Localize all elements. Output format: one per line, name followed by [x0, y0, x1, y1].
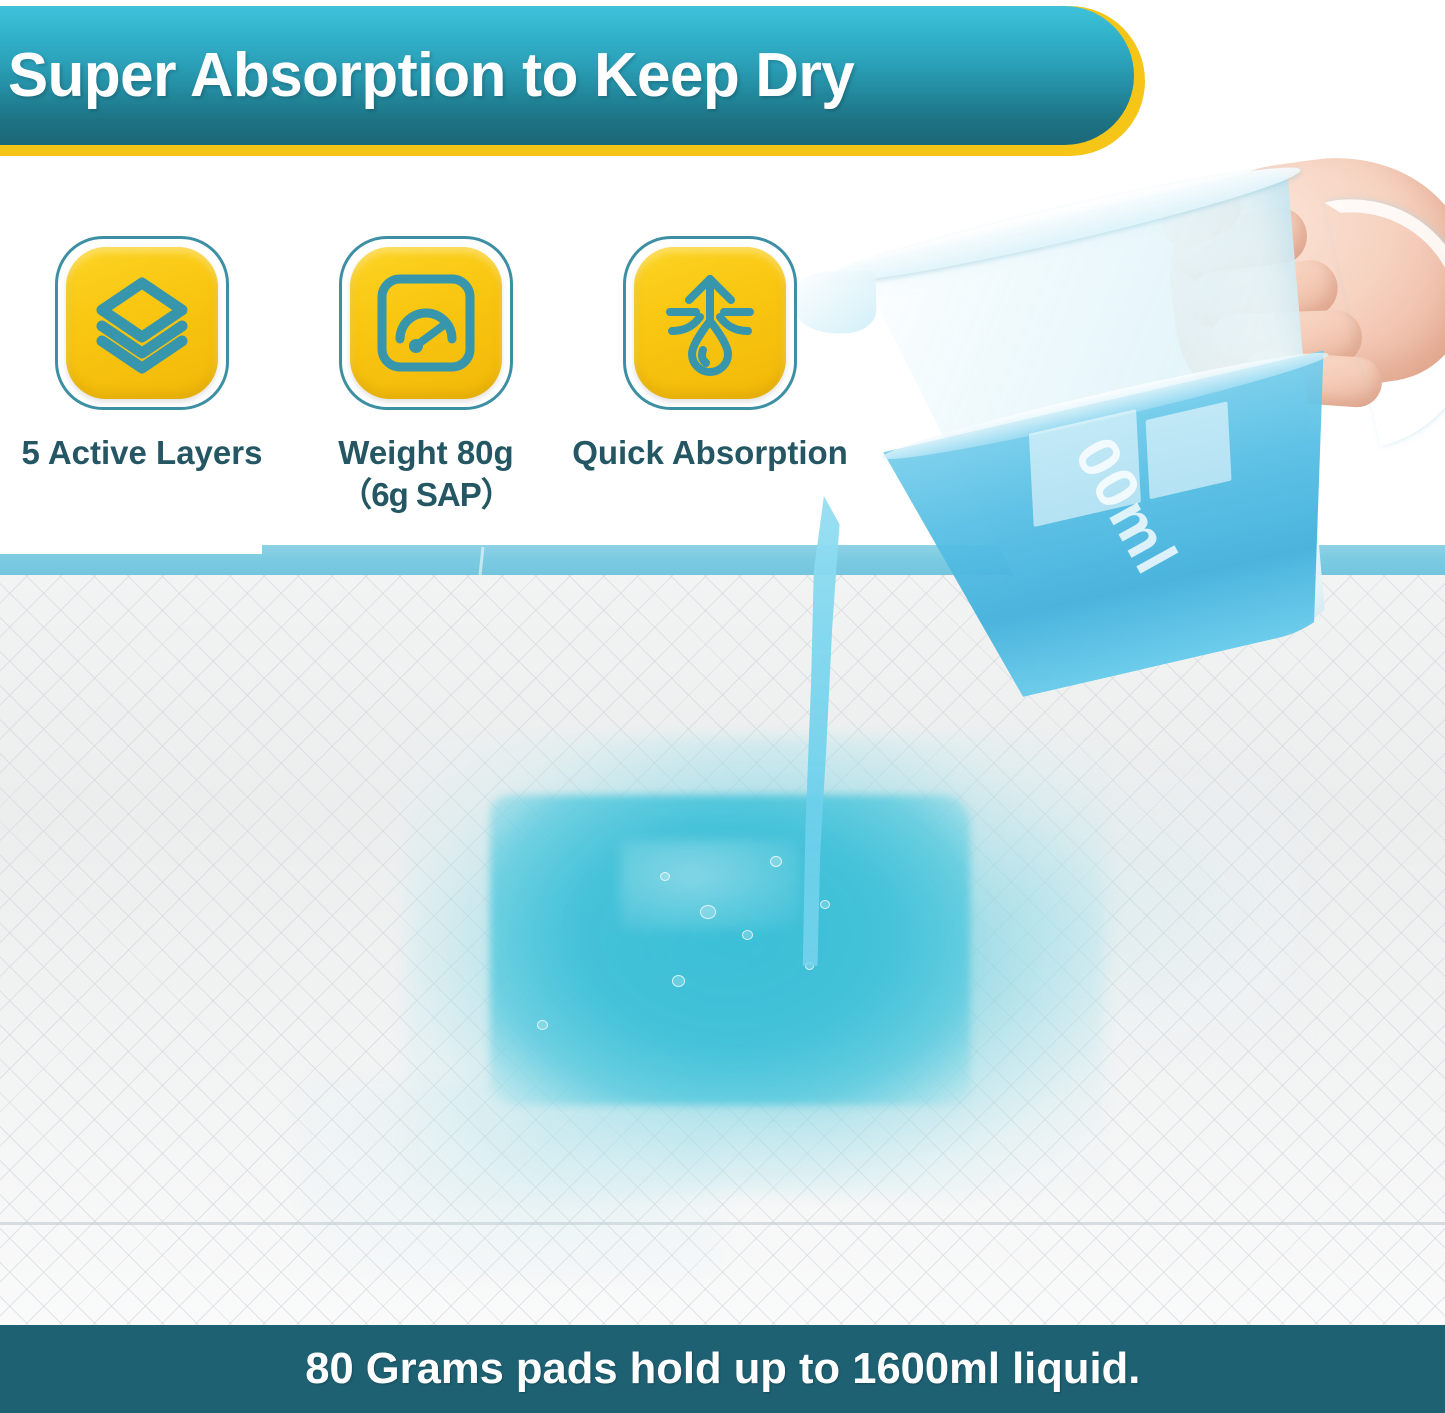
liquid-spread-left	[300, 1080, 720, 1280]
liquid-bubble	[770, 856, 782, 867]
footer-caption: 80 Grams pads hold up to 1600ml liquid.	[305, 1344, 1140, 1394]
pouring-water-stream	[800, 496, 846, 966]
feature-label-absorption: Quick Absorption	[572, 432, 848, 474]
feature-label-weight-sub: （6g SAP）	[338, 474, 513, 516]
finger	[1209, 309, 1363, 368]
liquid-bubble	[700, 905, 716, 919]
liquid-bubble	[660, 872, 670, 881]
feature-label-layers: 5 Active Layers	[22, 432, 263, 474]
liquid-surface	[879, 342, 1331, 470]
thumb	[1154, 176, 1249, 255]
absorbed-liquid-pool	[490, 795, 970, 1105]
pad-band-notch	[0, 545, 262, 554]
pad-blue-edge-band	[0, 545, 1445, 575]
feature-item-layers: 5 Active Layers	[0, 236, 284, 474]
liquid-bubble	[820, 900, 830, 909]
feature-item-weight: Weight 80g （6g SAP）	[284, 236, 568, 516]
icon-ring	[55, 236, 229, 410]
finger	[1171, 201, 1313, 289]
hand	[1150, 120, 1445, 420]
feature-label-weight-main: Weight 80g	[338, 434, 513, 471]
pitcher-volume-marking: 00ml	[1061, 426, 1192, 586]
feature-list: 5 Active Layers Weight 80g	[0, 236, 900, 536]
feature-item-absorption: Quick Absorption	[568, 236, 852, 474]
quick-absorption-droplet-icon	[656, 269, 764, 377]
liquid-bubble	[742, 930, 753, 940]
banner-body: Super Absorption to Keep Dry	[0, 6, 1134, 145]
feature-label-weight: Weight 80g （6g SAP）	[338, 432, 513, 516]
layers-stack-icon	[88, 269, 196, 377]
page-title: Super Absorption to Keep Dry	[8, 45, 854, 107]
finger	[1185, 257, 1341, 331]
measuring-pitcher: 00ml	[829, 144, 1445, 777]
gauge-weight-icon	[372, 269, 480, 377]
palm	[1155, 140, 1445, 410]
pitcher-body	[829, 164, 1390, 718]
icon-tile	[66, 247, 218, 399]
pitcher-liquid	[883, 350, 1384, 715]
graduation-mark	[1146, 401, 1232, 499]
header-banner: Super Absorption to Keep Dry	[0, 6, 1145, 156]
pad-band-wrinkle	[479, 547, 485, 575]
pad-seam-line	[0, 1222, 1445, 1225]
product-infographic: 00ml Super Absorption to Keep Dry	[0, 0, 1445, 1413]
product-photo: 00ml	[0, 0, 1445, 1365]
liquid-sheen	[620, 840, 800, 930]
absorbent-pad-surface	[0, 572, 1445, 1365]
graduation-mark	[1029, 409, 1141, 527]
icon-tile	[350, 247, 502, 399]
absorbed-liquid-halo	[405, 735, 1105, 1195]
footer-bar: 80 Grams pads hold up to 1600ml liquid.	[0, 1325, 1445, 1413]
icon-tile	[634, 247, 786, 399]
liquid-bubble	[537, 1020, 548, 1030]
icon-ring	[339, 236, 513, 410]
pitcher-handle	[1324, 175, 1445, 446]
finger	[1240, 349, 1383, 409]
liquid-bubble	[805, 962, 814, 970]
liquid-spread-right	[1010, 760, 1310, 1060]
icon-ring	[623, 236, 797, 410]
liquid-bubble	[672, 975, 685, 987]
